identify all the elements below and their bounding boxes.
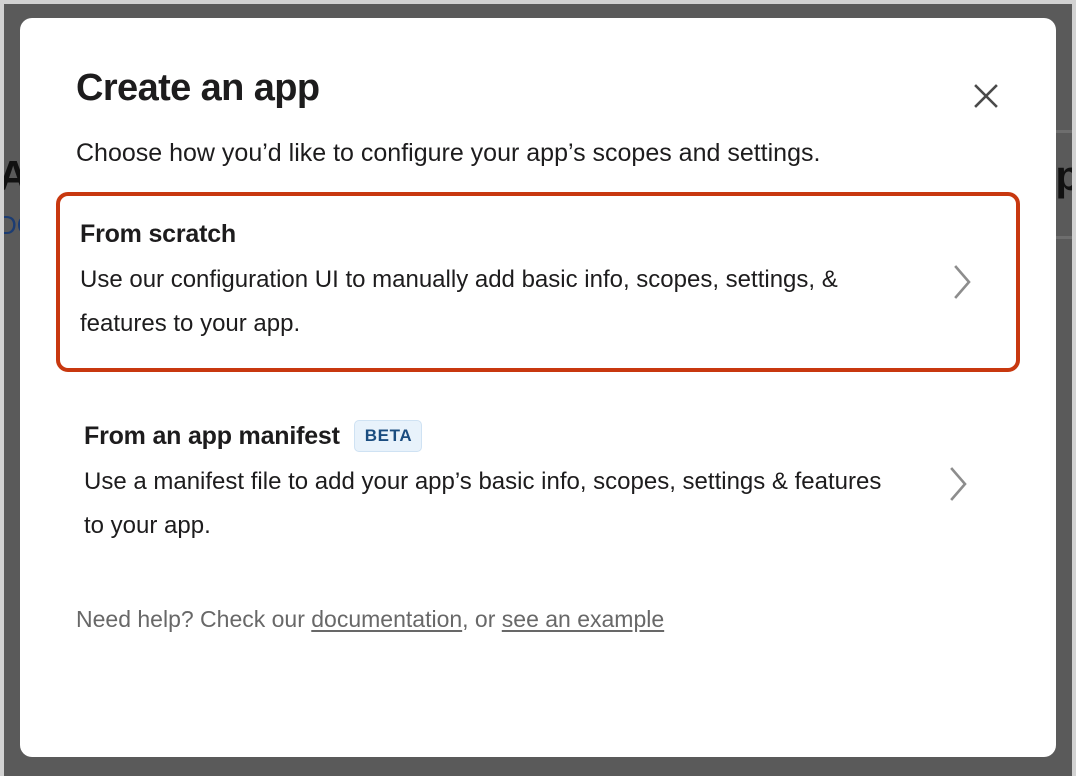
chevron-right-icon <box>946 260 980 304</box>
dialog-header: Create an app <box>20 18 1056 110</box>
dialog-footer-help: Need help? Check our documentation, or s… <box>20 574 1056 634</box>
create-an-app-dialog: Create an app Choose how you’d like to c… <box>20 18 1056 757</box>
option-from-app-manifest-title: From an app manifest <box>84 420 340 452</box>
option-from-app-manifest[interactable]: From an app manifest BETA Use a manifest… <box>56 394 1020 574</box>
option-from-app-manifest-title-line: From an app manifest BETA <box>84 420 912 452</box>
status-badge: BETA <box>354 420 422 452</box>
option-from-scratch-description: Use our configuration UI to manually add… <box>80 258 900 346</box>
chevron-right-icon <box>942 462 976 506</box>
footer-middle-text: , or <box>462 606 502 632</box>
footer-prefix-text: Need help? Check our <box>76 606 311 632</box>
close-icon <box>972 82 1000 110</box>
page-title: Create an app <box>76 66 1000 110</box>
page-frame: AP DO pp Create an app Choose how you’d … <box>0 0 1076 776</box>
dialog-subtitle: Choose how you’d like to configure your … <box>20 110 1056 170</box>
app-creation-options-list: From scratch Use our configuration UI to… <box>20 192 1056 574</box>
see-an-example-link[interactable]: see an example <box>502 606 664 632</box>
documentation-link[interactable]: documentation <box>311 606 462 632</box>
option-from-scratch-title-line: From scratch <box>80 218 916 250</box>
option-from-scratch[interactable]: From scratch Use our configuration UI to… <box>56 192 1020 372</box>
option-from-scratch-title: From scratch <box>80 218 236 250</box>
option-from-scratch-body: From scratch Use our configuration UI to… <box>80 218 946 346</box>
close-button[interactable] <box>964 74 1008 118</box>
option-from-app-manifest-description: Use a manifest file to add your app’s ba… <box>84 460 904 548</box>
option-from-app-manifest-body: From an app manifest BETA Use a manifest… <box>84 420 942 548</box>
